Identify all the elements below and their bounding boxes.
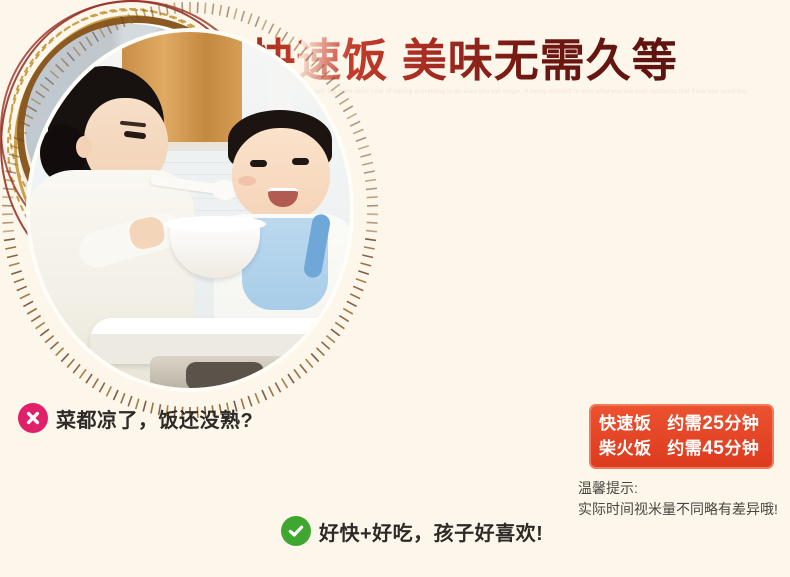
mother-feeding-baby-photo (30, 32, 350, 388)
time-mode-firewood: 柴火饭 (599, 439, 652, 458)
cooking-time-box: 快速饭 约需25分钟 柴火饭 约需45分钟 (589, 404, 774, 469)
time-mode-fast: 快速饭 (599, 414, 652, 433)
positive-note: 好快+好吃，孩子好喜欢! (281, 516, 543, 546)
tips-heading: 温馨提示: (578, 478, 788, 499)
time-prefix-fast: 约需 (667, 414, 702, 433)
time-value-fast: 25 (702, 413, 724, 434)
tips-block: 温馨提示: 实际时间视米量不同略有差异哦! (578, 478, 788, 520)
x-circle-icon (18, 403, 48, 433)
center-photo-circle (0, 554, 380, 577)
tips-body: 实际时间视米量不同略有差异哦! (578, 499, 788, 520)
positive-note-text: 好快+好吃，孩子好喜欢! (319, 517, 543, 546)
check-circle-icon (281, 516, 311, 546)
negative-note-text: 菜都凉了，饭还没熟? (56, 404, 253, 433)
time-row-fast: 快速饭 约需25分钟 (599, 411, 764, 436)
poster-stage: 大火力快速饭 美味无需久等 Because it is in which bei… (0, 0, 790, 577)
time-unit-firewood: 分钟 (724, 439, 759, 458)
high-chair-base (186, 362, 264, 388)
time-unit-fast: 分钟 (724, 414, 759, 433)
negative-note: 菜都凉了，饭还没熟? (18, 403, 253, 433)
time-value-firewood: 45 (702, 438, 724, 459)
time-row-firewood: 柴火饭 约需45分钟 (599, 436, 764, 461)
time-prefix-firewood: 约需 (667, 439, 702, 458)
